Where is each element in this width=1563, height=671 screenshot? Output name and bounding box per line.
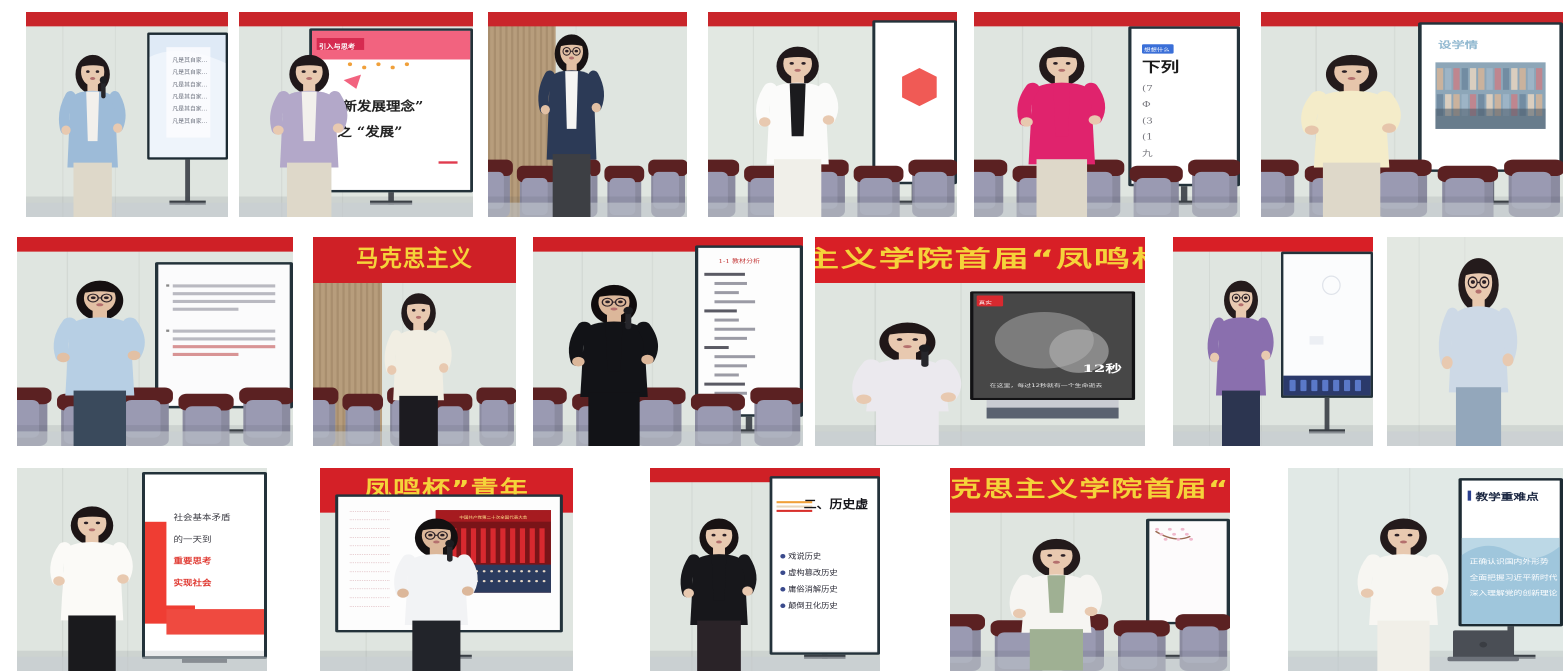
svg-text:的一天到: 的一天到 bbox=[174, 534, 212, 545]
svg-text:·······················: ······················· bbox=[349, 561, 390, 566]
gallery-photo-p2[interactable]: 引入与思考“新发展理念”之 “发展” bbox=[239, 12, 473, 217]
svg-text:·······················: ······················· bbox=[349, 579, 390, 584]
svg-text:深入理解党的创新理论: 深入理解党的创新理论 bbox=[1470, 589, 1558, 597]
gallery-photo-p15[interactable]: 二、历史虚戏说历史虚构篡改历史庸俗消解历史颠倒丑化历史 bbox=[650, 468, 880, 671]
svg-text:马克思主义学院首届“凤: 马克思主义学院首届“凤 bbox=[950, 476, 1230, 503]
svg-text:凡是其自家…: 凡是其自家… bbox=[172, 80, 207, 88]
svg-text:(3: (3 bbox=[1142, 116, 1153, 125]
svg-text:想想什么: 想想什么 bbox=[1144, 46, 1170, 53]
svg-text:Φ: Φ bbox=[1142, 100, 1151, 109]
svg-text:之 “发展”: 之 “发展” bbox=[337, 124, 402, 140]
gallery-photo-p14[interactable]: 凤鸣杯”青年··································… bbox=[320, 468, 573, 671]
svg-text:全面把握习近平新时代: 全面把握习近平新时代 bbox=[1470, 573, 1558, 581]
gallery-photo-p8[interactable]: 马克思主义 bbox=[313, 237, 516, 446]
svg-text:·······················: ······················· bbox=[349, 553, 390, 558]
gallery-photo-p13[interactable]: 社会基本矛盾的一天到重要思考实现社会 bbox=[17, 468, 267, 671]
svg-text:·······················: ······················· bbox=[349, 544, 390, 549]
gallery-photo-p12[interactable] bbox=[1387, 237, 1563, 446]
svg-text:正确认识国内外形势: 正确认识国内外形势 bbox=[1470, 557, 1549, 565]
svg-text:庸俗消解历史: 庸俗消解历史 bbox=[788, 584, 838, 593]
svg-text:(1: (1 bbox=[1142, 133, 1153, 142]
svg-text:马克思主义学院首届“凤鸣杯”青年: 马克思主义学院首届“凤鸣杯”青年 bbox=[815, 245, 1145, 272]
svg-text:“新发展理念”: “新发展理念” bbox=[334, 98, 423, 114]
gallery-photo-p11[interactable] bbox=[1173, 237, 1373, 446]
svg-text:九: 九 bbox=[1142, 148, 1153, 158]
svg-text:马克思主义: 马克思主义 bbox=[356, 245, 473, 272]
svg-text:·······················: ······················· bbox=[349, 518, 390, 523]
svg-text:凡是其自家…: 凡是其自家… bbox=[172, 117, 207, 125]
photo-gallery: 凡是其自家…凡是其自家…凡是其自家…凡是其自家…凡是其自家…凡是其自家…引入与思… bbox=[0, 0, 1563, 671]
svg-text:凡是其自家…: 凡是其自家… bbox=[172, 92, 207, 100]
svg-text:·······················: ······················· bbox=[349, 596, 390, 601]
svg-text:·······················: ······················· bbox=[349, 587, 390, 592]
gallery-photo-p1[interactable]: 凡是其自家…凡是其自家…凡是其自家…凡是其自家…凡是其自家…凡是其自家… bbox=[26, 12, 228, 217]
svg-text:(7: (7 bbox=[1142, 84, 1153, 93]
svg-text:真实: 真实 bbox=[979, 299, 993, 305]
gallery-photo-p9[interactable]: 1-1 教材分析 bbox=[533, 237, 803, 446]
svg-text:·······················: ······················· bbox=[349, 604, 390, 609]
gallery-photo-p17[interactable]: 教学重难点正确认识国内外形势全面把握习近平新时代深入理解党的创新理论 bbox=[1288, 468, 1563, 671]
gallery-photo-p6[interactable]: 设学情 bbox=[1261, 12, 1563, 217]
svg-text:设学情: 设学情 bbox=[1438, 39, 1479, 50]
svg-text:·······················: ······················· bbox=[349, 535, 390, 540]
gallery-photo-p4[interactable] bbox=[708, 12, 957, 217]
svg-text:·······················: ······················· bbox=[349, 509, 390, 514]
gallery-photo-p7[interactable] bbox=[17, 237, 293, 446]
svg-text:虚构篡改历史: 虚构篡改历史 bbox=[788, 568, 838, 577]
svg-text:引入与思考: 引入与思考 bbox=[319, 42, 355, 50]
svg-text:在这里，每过12秒就有一个生命逝去: 在这里，每过12秒就有一个生命逝去 bbox=[990, 382, 1103, 388]
svg-text:社会基本矛盾: 社会基本矛盾 bbox=[174, 512, 231, 523]
gallery-photo-p5[interactable]: 想想什么下列(7Φ(3(1九 bbox=[974, 12, 1240, 217]
svg-text:实现社会: 实现社会 bbox=[174, 577, 212, 588]
svg-text:12秒: 12秒 bbox=[1082, 362, 1122, 375]
svg-text:凡是其自家…: 凡是其自家… bbox=[172, 68, 207, 76]
svg-text:重要思考: 重要思考 bbox=[174, 556, 212, 567]
gallery-photo-p10[interactable]: 马克思主义学院首届“凤鸣杯”青年真实12秒在这里，每过12秒就有一个生命逝去 bbox=[815, 237, 1145, 446]
svg-text:凡是其自家…: 凡是其自家… bbox=[172, 105, 207, 113]
svg-text:下列: 下列 bbox=[1142, 58, 1179, 75]
svg-text:颠倒丑化历史: 颠倒丑化历史 bbox=[788, 601, 838, 610]
svg-text:中国共产党第二十次全国代表大会: 中国共产党第二十次全国代表大会 bbox=[459, 514, 527, 519]
svg-text:·······················: ······················· bbox=[349, 570, 390, 575]
svg-text:1-1 教材分析: 1-1 教材分析 bbox=[719, 257, 761, 265]
svg-text:·······················: ······················· bbox=[349, 527, 390, 532]
svg-text:凡是其自家…: 凡是其自家… bbox=[172, 56, 207, 64]
gallery-photo-p3[interactable] bbox=[488, 12, 687, 217]
svg-text:二、历史虚: 二、历史虚 bbox=[804, 497, 868, 511]
svg-text:戏说历史: 戏说历史 bbox=[788, 551, 821, 560]
svg-text:教学重难点: 教学重难点 bbox=[1474, 491, 1538, 503]
gallery-photo-p16[interactable]: 马克思主义学院首届“凤 bbox=[950, 468, 1230, 671]
